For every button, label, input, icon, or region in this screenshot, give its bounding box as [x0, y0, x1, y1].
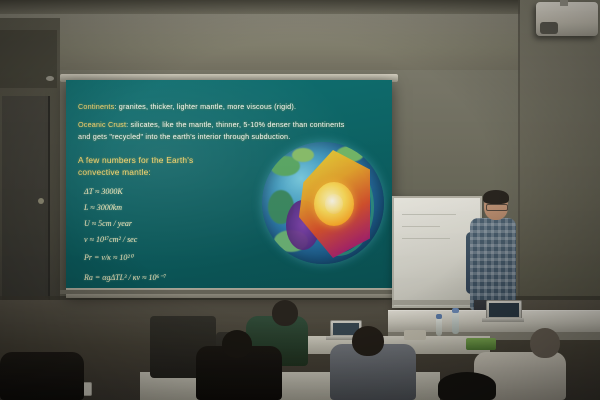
water-bottle-2[interactable]: [436, 318, 442, 336]
ceiling: [0, 0, 600, 14]
paper-stack[interactable]: [404, 330, 426, 340]
water-bottle-1-cap: [452, 308, 459, 313]
projector-mount: [560, 0, 568, 6]
inner-core: [325, 194, 343, 214]
equation-delta-t: ΔT ≈ 3000K: [84, 184, 123, 199]
equation-velocity: U ≈ 5cm / year: [84, 216, 132, 231]
laptop-1[interactable]: [486, 300, 522, 320]
slide-line-continents-body: : granites, thicker, lighter mantle, mor…: [114, 102, 296, 111]
equation-viscosity: ν ≈ 10¹⁷cm² / sec: [84, 232, 137, 247]
photograph: Continents: granites, thicker, lighter m…: [0, 0, 600, 400]
screen-roller: [60, 290, 398, 294]
glasses-icon: [486, 204, 508, 211]
slide-numbers-heading: A few numbers for the Earth's: [78, 155, 193, 165]
door-knob-icon[interactable]: [38, 198, 44, 204]
equation-rayleigh: Ra = αgΔTL³ / κν ≈ 10⁶⁻⁷: [84, 270, 166, 285]
earth-cutaway-diagram: [262, 142, 384, 264]
right-wall: [520, 0, 600, 320]
slide-line-continents-label: Continents: [78, 102, 114, 111]
projected-slide: Continents: granites, thicker, lighter m…: [66, 80, 392, 294]
water-bottle-1[interactable]: [452, 312, 459, 334]
slide-line-oceanic-body: : silicates, like the mantle, thinner, 5…: [126, 120, 344, 129]
projector-lens-icon: [540, 22, 558, 34]
slide-numbers-heading-2: convective mantle:: [78, 167, 151, 177]
foreground-shadow: [438, 372, 496, 400]
projection-screen: Continents: granites, thicker, lighter m…: [66, 80, 392, 294]
ceiling-sensor-icon: [46, 76, 54, 81]
laptop-1-base: [482, 318, 524, 322]
whiteboard-tray: [392, 300, 478, 305]
slide-line-oceanic-label: Oceanic Crust: [78, 120, 126, 129]
presenter-shirt: [470, 218, 516, 310]
presenter-hair: [483, 190, 509, 204]
equation-length: L ≈ 3000km: [84, 200, 122, 215]
slide-line-recycled: and gets "recycled" into the earth's int…: [78, 132, 290, 141]
green-box[interactable]: [466, 338, 496, 350]
equation-prandtl: Pr = ν/κ ≈ 10²⁰: [84, 250, 133, 265]
wall-seam: [518, 0, 520, 320]
water-bottle-2-cap: [436, 314, 442, 319]
